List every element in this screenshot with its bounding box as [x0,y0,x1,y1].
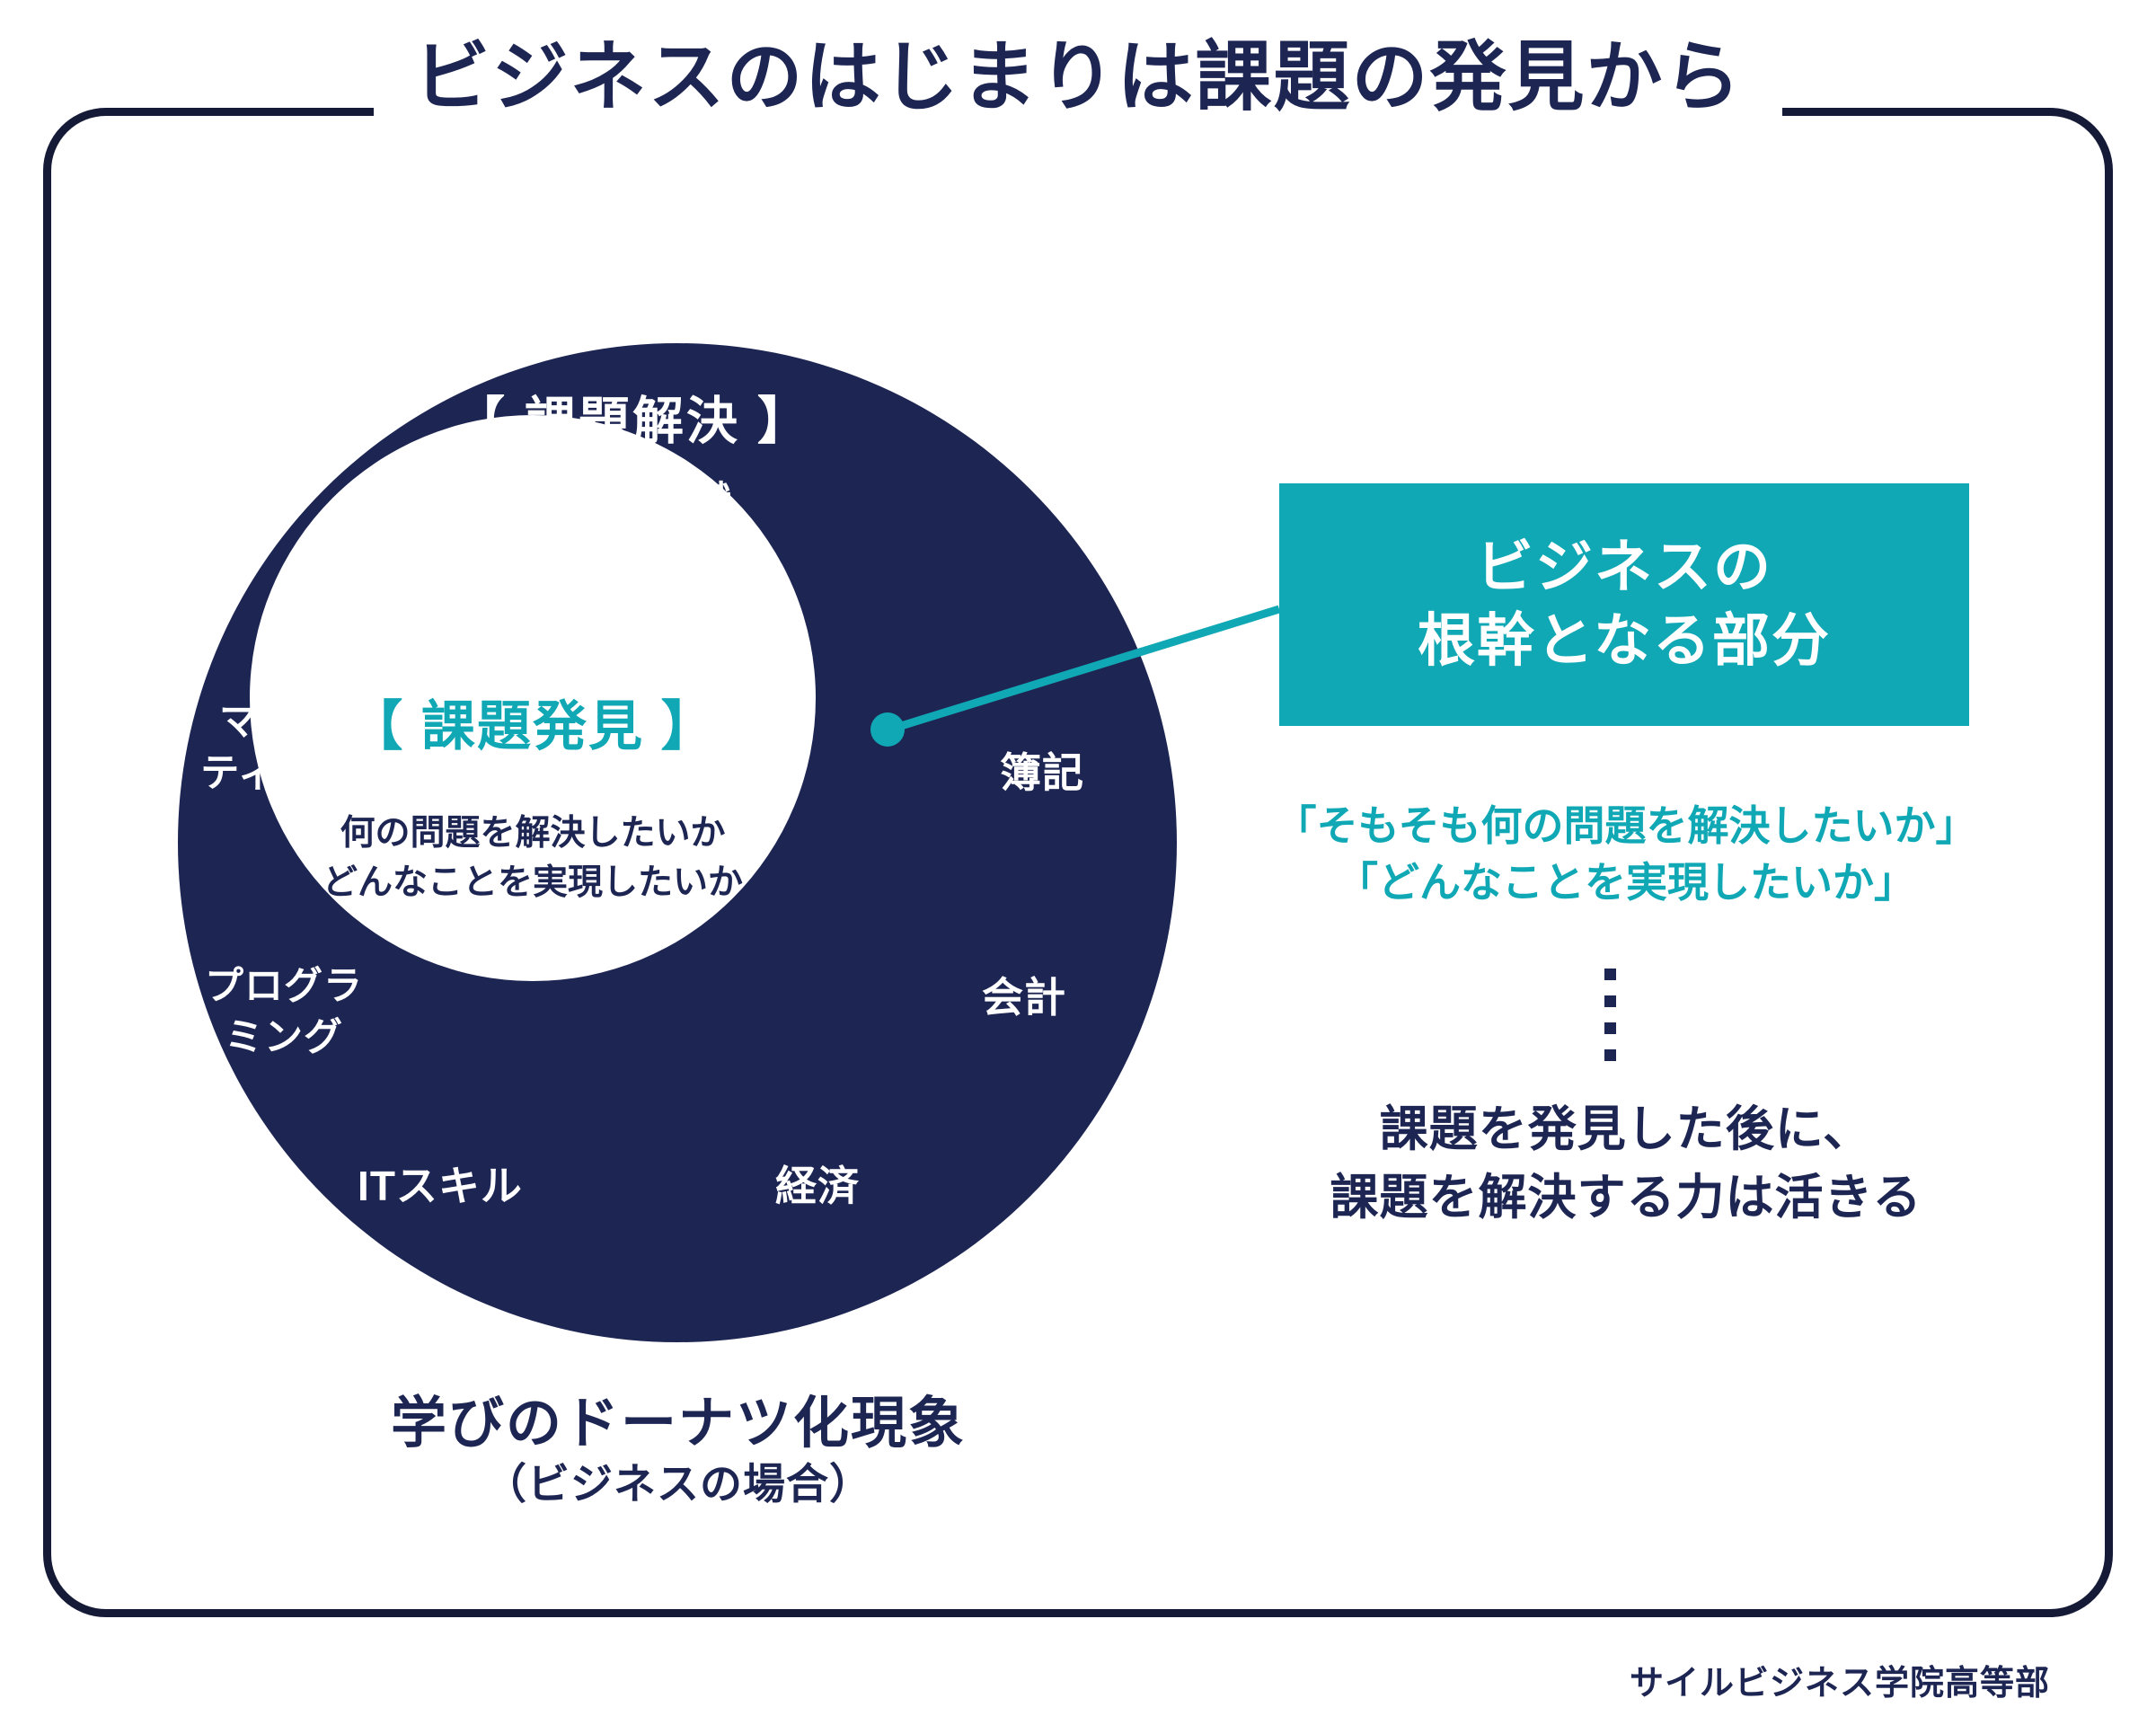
center-heading: 【 課題発見 】 [304,683,762,761]
vertical-dotted-divider-icon [1604,969,1617,1062]
diagram-canvas: ビジネスのはじまりは課題の発見から 【 課題解決 】 資格や知識 マーケティング… [0,0,2156,1725]
right-conclusion: 課題を発見した後に、課題を解決する力は活きる [1240,1096,2012,1232]
page-title: ビジネスのはじまりは課題の発見から [413,35,1742,120]
ring-label-keizai: 経済 [701,1159,934,1214]
ring-label-it-skill: ITスキル [296,1159,584,1214]
page-title-wrap: ビジネスのはじまりは課題の発見から [0,36,2156,120]
ring-subheading: 資格や知識 [363,476,902,527]
divider-dot [1604,995,1616,1007]
footer-brand: サイルビジネス学院高等部 [1630,1655,2050,1704]
donut-caption-sub: （ビジネスの場合） [207,1456,1150,1511]
divider-dot [1604,1022,1616,1034]
divider-dot [1604,1049,1616,1061]
ring-heading: 【 課題解決 】 [363,388,902,456]
teal-callout-text: ビジネスの根幹となる部分 [1418,531,1831,678]
divider-dot [1604,969,1616,980]
donut-caption: 学びのドーナツ化現象 （ビジネスの場合） [207,1391,1150,1511]
page-title-inner: ビジネスのはじまりは課題の発見から [374,36,1781,120]
ring-label-boki: 簿記 [925,746,1159,801]
teal-callout-box: ビジネスの根幹となる部分 [1279,483,1969,726]
ring-label-kaikei: 会計 [907,970,1141,1025]
center-description: 何の問題を解決したいかどんなことを実現したいか [286,809,780,908]
right-quotes: 「そもそも何の問題を解決したいか」「どんなことを実現したいか」 [1240,798,2012,912]
donut-caption-main: 学びのドーナツ化現象 [207,1391,1150,1456]
ring-label-programming: プログラミング [158,961,410,1064]
